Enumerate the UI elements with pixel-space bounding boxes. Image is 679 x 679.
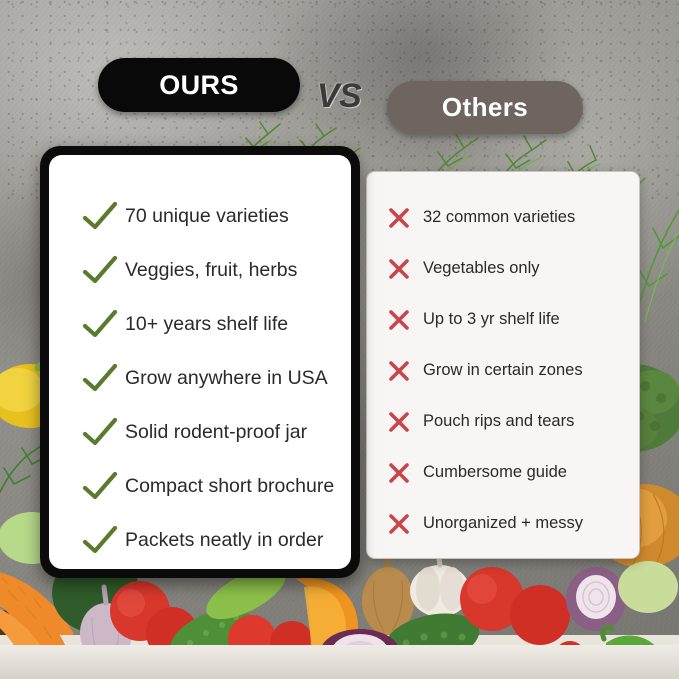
check-icon [81,471,119,501]
check-icon [81,417,119,447]
list-item: Cumbersome guide [367,447,639,498]
check-icon [81,201,119,231]
list-item-label: 70 unique varieties [125,205,289,228]
ours-pill-label: OURS [159,70,239,101]
check-icon [81,309,119,339]
check-icon [81,471,119,501]
list-item: Up to 3 yr shelf life [367,294,639,345]
list-item: Veggies, fruit, herbs [49,243,351,297]
others-card: 32 common varietiesVegetables onlyUp to … [366,171,640,559]
comparison-infographic: OURS VS Others 70 unique varietiesVeggie… [0,0,679,679]
check-icon [81,363,119,393]
cross-icon [386,205,412,231]
list-item: Grow in certain zones [367,345,639,396]
others-pill-label: Others [442,92,528,123]
vs-label: VS [306,77,372,116]
cross-icon [383,307,415,333]
check-icon [81,363,119,393]
check-icon [81,255,119,285]
ours-card: 70 unique varietiesVeggies, fruit, herbs… [40,146,360,578]
list-item-label: Grow anywhere in USA [125,367,328,390]
list-item-label: Vegetables only [423,259,540,278]
cross-icon [386,511,412,537]
cross-icon [383,511,415,537]
cross-icon [383,205,415,231]
cross-icon [383,256,415,282]
check-icon [81,255,119,285]
cross-icon [386,256,412,282]
list-item: Grow anywhere in USA [49,351,351,405]
list-item-label: 32 common varieties [423,208,575,227]
check-icon [81,525,119,555]
list-item-label: 10+ years shelf life [125,313,288,336]
ours-card-inner: 70 unique varietiesVeggies, fruit, herbs… [49,155,351,569]
check-icon [81,201,119,231]
list-item: Packets neatly in order [49,513,351,567]
list-item-label: Unorganized + messy [423,514,583,533]
others-feature-list: 32 common varietiesVegetables onlyUp to … [367,192,639,549]
list-item-label: Grow in certain zones [423,361,583,380]
list-item: 10+ years shelf life [49,297,351,351]
list-item: Compact short brochure [49,459,351,513]
list-item-label: Pouch rips and tears [423,412,574,431]
list-item: 32 common varieties [367,192,639,243]
list-item-label: Compact short brochure [125,475,334,498]
cross-icon [383,358,415,384]
check-icon [81,417,119,447]
check-icon [81,525,119,555]
list-item: Solid rodent-proof jar [49,405,351,459]
check-icon [81,309,119,339]
list-item-label: Packets neatly in order [125,529,323,552]
list-item: 70 unique varieties [49,189,351,243]
cross-icon [386,409,412,435]
list-item-label: Veggies, fruit, herbs [125,259,297,282]
list-item-label: Cumbersome guide [423,463,567,482]
list-item: Vegetables only [367,243,639,294]
list-item: Pouch rips and tears [367,396,639,447]
cross-icon [386,358,412,384]
list-item: Unorganized + messy [367,498,639,549]
ours-feature-list: 70 unique varietiesVeggies, fruit, herbs… [49,189,351,567]
cross-icon [383,409,415,435]
table-surface [0,645,679,679]
list-item-label: Up to 3 yr shelf life [423,310,560,329]
cross-icon [386,307,412,333]
cross-icon [383,460,415,486]
list-item-label: Solid rodent-proof jar [125,421,307,444]
cross-icon [386,460,412,486]
others-pill: Others [387,81,583,134]
ours-pill: OURS [98,58,300,112]
